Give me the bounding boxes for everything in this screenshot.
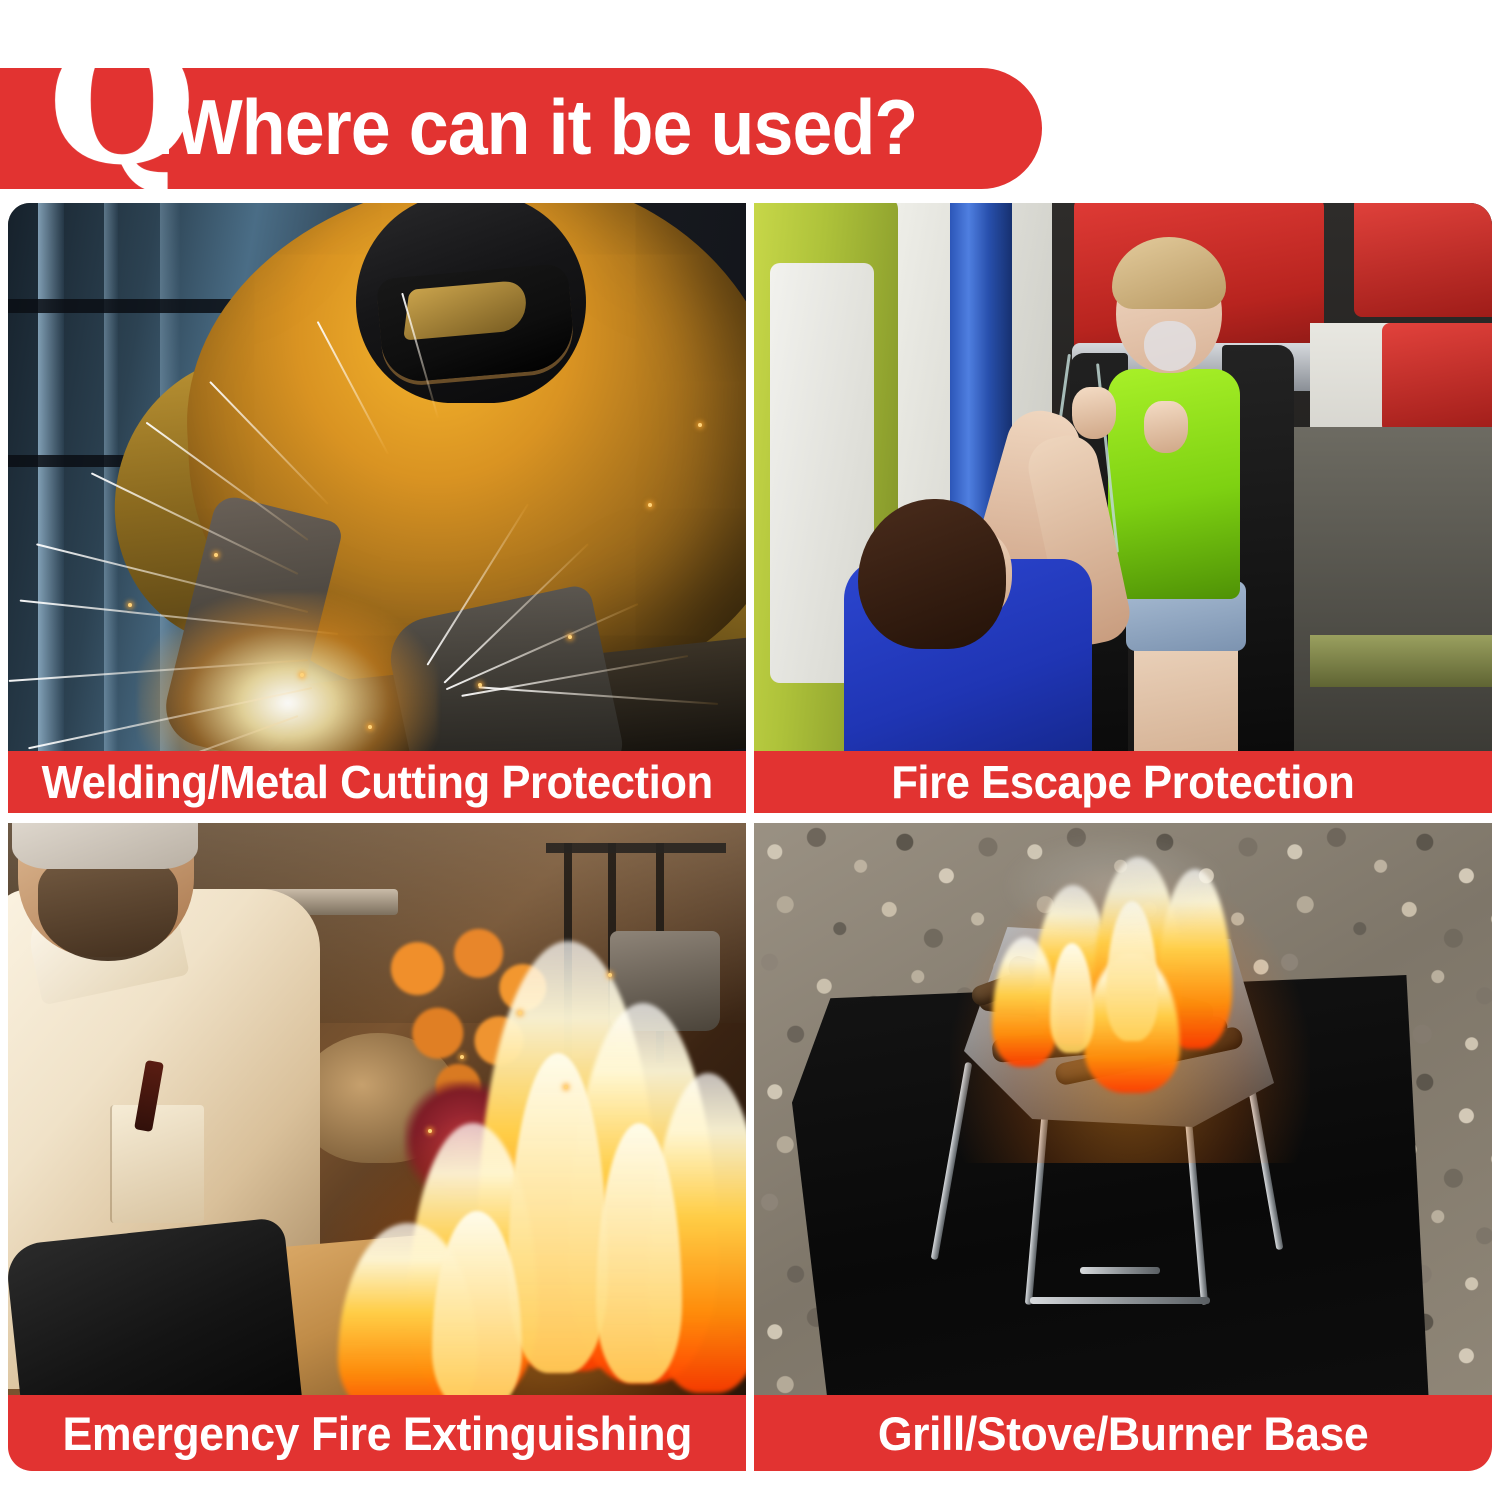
ember-icon <box>128 603 132 607</box>
ember-icon <box>608 973 612 977</box>
pillar-icon <box>104 203 118 751</box>
chef-hair <box>12 823 198 869</box>
caption-welding-text: Welding/Metal Cutting Protection <box>41 755 712 809</box>
ember-icon <box>368 725 372 729</box>
ambulance-step <box>1310 635 1492 687</box>
caption-grill-base-text: Grill/Stove/Burner Base <box>878 1406 1368 1461</box>
caption-fire-extinguishing-text: Emergency Fire Extinguishing <box>62 1406 691 1461</box>
paramedic-hand <box>1072 387 1116 439</box>
ambulance-floor <box>1294 427 1492 751</box>
chef-chest-pocket <box>110 1105 204 1223</box>
stand-crossbar <box>1080 1267 1160 1274</box>
stand-crossbar <box>1030 1297 1210 1304</box>
pillar-icon <box>38 203 64 751</box>
fire-escape-photo <box>754 203 1492 751</box>
paramedic-hair <box>858 499 1006 649</box>
oxygen-mask-icon <box>1144 321 1196 371</box>
ember-icon <box>564 1085 568 1089</box>
ember-icon <box>518 1011 522 1015</box>
chef-beard <box>38 857 178 961</box>
panel-welding: Welding/Metal Cutting Protection <box>8 203 746 813</box>
panel-fire-escape: Fire Escape Protection <box>754 203 1492 813</box>
ember-icon <box>300 673 304 677</box>
header-banner: Q :Where can it be used? <box>0 0 1500 196</box>
caption-fire-escape-text: Fire Escape Protection <box>891 755 1354 809</box>
panel-grill-base: Grill/Stove/Burner Base <box>754 823 1492 1471</box>
welding-photo <box>8 203 746 751</box>
ambulance-seat <box>1382 323 1492 433</box>
caption-fire-escape: Fire Escape Protection <box>754 751 1492 813</box>
caption-fire-extinguishing: Emergency Fire Extinguishing <box>8 1395 746 1471</box>
ember-icon <box>428 1129 432 1133</box>
beam-icon <box>8 299 238 313</box>
ambulance-seat <box>1354 203 1492 317</box>
grill-base-photo <box>754 823 1492 1395</box>
fire-extinguishing-photo <box>8 823 746 1395</box>
caption-welding: Welding/Metal Cutting Protection <box>8 751 746 813</box>
smoke-icon <box>1000 831 1230 941</box>
ember-icon <box>648 503 652 507</box>
caption-grill-base: Grill/Stove/Burner Base <box>754 1395 1492 1471</box>
ember-icon <box>478 683 482 687</box>
ember-icon <box>568 635 572 639</box>
ember-icon <box>214 553 218 557</box>
chef-black-glove <box>8 1217 303 1395</box>
page-title: :Where can it be used? <box>152 78 917 176</box>
use-case-grid: Welding/Metal Cutting Protection <box>8 203 1492 1471</box>
panel-fire-extinguishing: Emergency Fire Extinguishing <box>8 823 746 1471</box>
ember-icon <box>460 1055 464 1059</box>
paramedic-hand <box>1144 401 1188 453</box>
ember-icon <box>698 423 702 427</box>
